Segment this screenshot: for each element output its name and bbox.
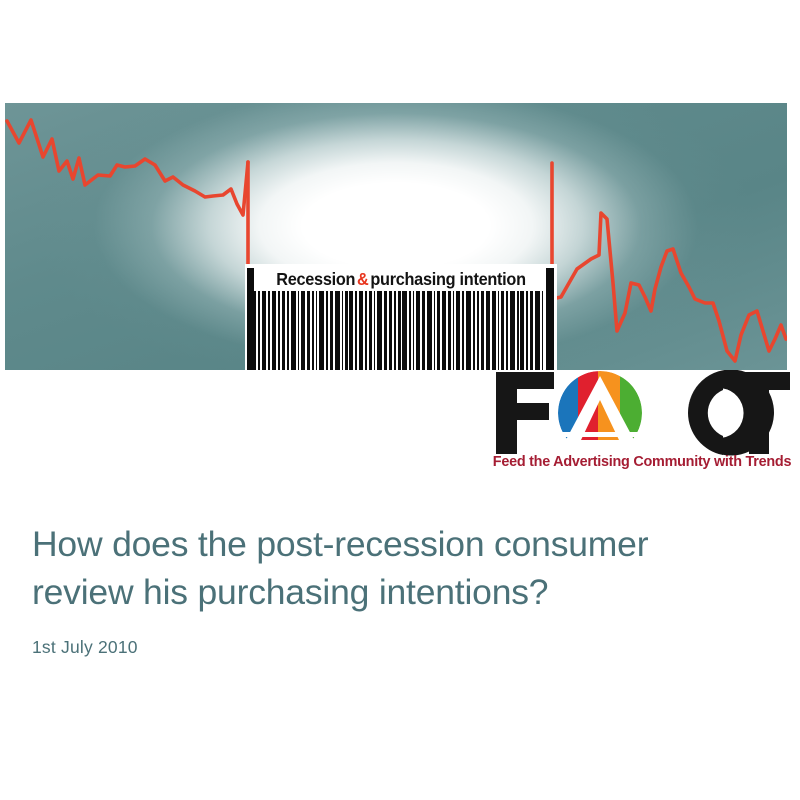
barcode-bar — [466, 291, 471, 370]
hero-banner: Recession & purchasing intention — [5, 103, 787, 370]
barcode-bar — [307, 291, 310, 370]
barcode-title: Recession & purchasing intention — [256, 264, 546, 294]
barcode-bar — [492, 291, 496, 370]
barcode-bar — [526, 291, 528, 370]
logo-letter-c-body — [688, 371, 723, 455]
barcode-bar — [409, 291, 411, 370]
barcode-bar — [473, 291, 474, 370]
barcode-bar — [437, 291, 439, 370]
page-title: How does the post-recession consumer rev… — [32, 520, 762, 616]
barcode-bar — [298, 291, 299, 370]
title-block: How does the post-recession consumer rev… — [32, 520, 762, 658]
barcode-bar — [355, 291, 356, 370]
barcode-bars — [245, 291, 557, 370]
page-title-line1: How does the post-recession consumer — [32, 524, 648, 564]
barcode-bar — [377, 291, 382, 370]
barcode-bar — [365, 291, 367, 370]
fact-logo: Feed the Advertising Community with Tren… — [492, 370, 792, 482]
logo-letter-f — [496, 372, 554, 454]
barcode-bar — [402, 291, 406, 370]
barcode-bar — [442, 291, 446, 370]
barcode-bar — [422, 291, 425, 370]
barcode-bar — [258, 291, 260, 370]
barcode-bar — [398, 291, 401, 370]
barcode-bar — [282, 291, 285, 370]
barcode-bar — [369, 291, 372, 370]
barcode-bar — [486, 291, 490, 370]
barcode-bar — [349, 291, 353, 370]
barcode-bar — [434, 291, 435, 370]
chart-line-right — [552, 163, 786, 361]
barcode-bar — [413, 291, 414, 370]
fact-logo-mark — [492, 370, 792, 456]
barcode-bar — [389, 291, 393, 370]
barcode-guard-left — [247, 268, 254, 370]
barcode-bar — [453, 291, 454, 370]
barcode-bar — [462, 291, 464, 370]
barcode-bar — [301, 291, 305, 370]
barcode-guard-right — [546, 268, 554, 370]
logo-letter-a-mark — [550, 370, 650, 456]
page-title-line2: review his purchasing intentions? — [32, 572, 548, 612]
barcode-bar — [342, 291, 343, 370]
barcode-bar — [456, 291, 460, 370]
barcode-bar — [535, 291, 539, 370]
barcode-bar — [272, 291, 276, 370]
barcode-bar — [326, 291, 328, 370]
barcode-bar — [312, 291, 314, 370]
barcode-bar — [335, 291, 340, 370]
barcode: Recession & purchasing intention — [245, 264, 557, 370]
barcode-bar — [530, 291, 533, 370]
barcode-bar — [501, 291, 504, 370]
barcode-bar — [268, 291, 270, 370]
barcode-bar — [316, 291, 317, 370]
barcode-bar — [506, 291, 508, 370]
barcode-bar — [374, 291, 375, 370]
barcode-bar — [319, 291, 323, 370]
barcode-bar — [427, 291, 432, 370]
barcode-title-ampersand: & — [355, 269, 370, 290]
page-date: 1st July 2010 — [32, 636, 762, 658]
barcode-bar — [262, 291, 266, 370]
barcode-bar — [394, 291, 395, 370]
barcode-bar — [477, 291, 480, 370]
barcode-bar — [384, 291, 386, 370]
chart-line-left — [7, 120, 248, 215]
barcode-bar — [287, 291, 289, 370]
barcode-title-part1: Recession — [276, 269, 355, 290]
barcode-bar — [517, 291, 518, 370]
barcode-bar — [416, 291, 420, 370]
barcode-bar — [345, 291, 347, 370]
barcode-bar — [481, 291, 483, 370]
barcode-bar — [498, 291, 499, 370]
barcode-bar — [520, 291, 524, 370]
barcode-bar — [510, 291, 515, 370]
barcode-bar — [291, 291, 296, 370]
barcode-bar — [542, 291, 543, 370]
barcode-bar — [278, 291, 279, 370]
barcode-bar — [448, 291, 451, 370]
barcode-title-part2: purchasing intention — [370, 269, 525, 290]
barcode-bar — [330, 291, 333, 370]
barcode-bar — [359, 291, 363, 370]
fact-logo-tagline: Feed the Advertising Community with Tren… — [492, 454, 792, 470]
